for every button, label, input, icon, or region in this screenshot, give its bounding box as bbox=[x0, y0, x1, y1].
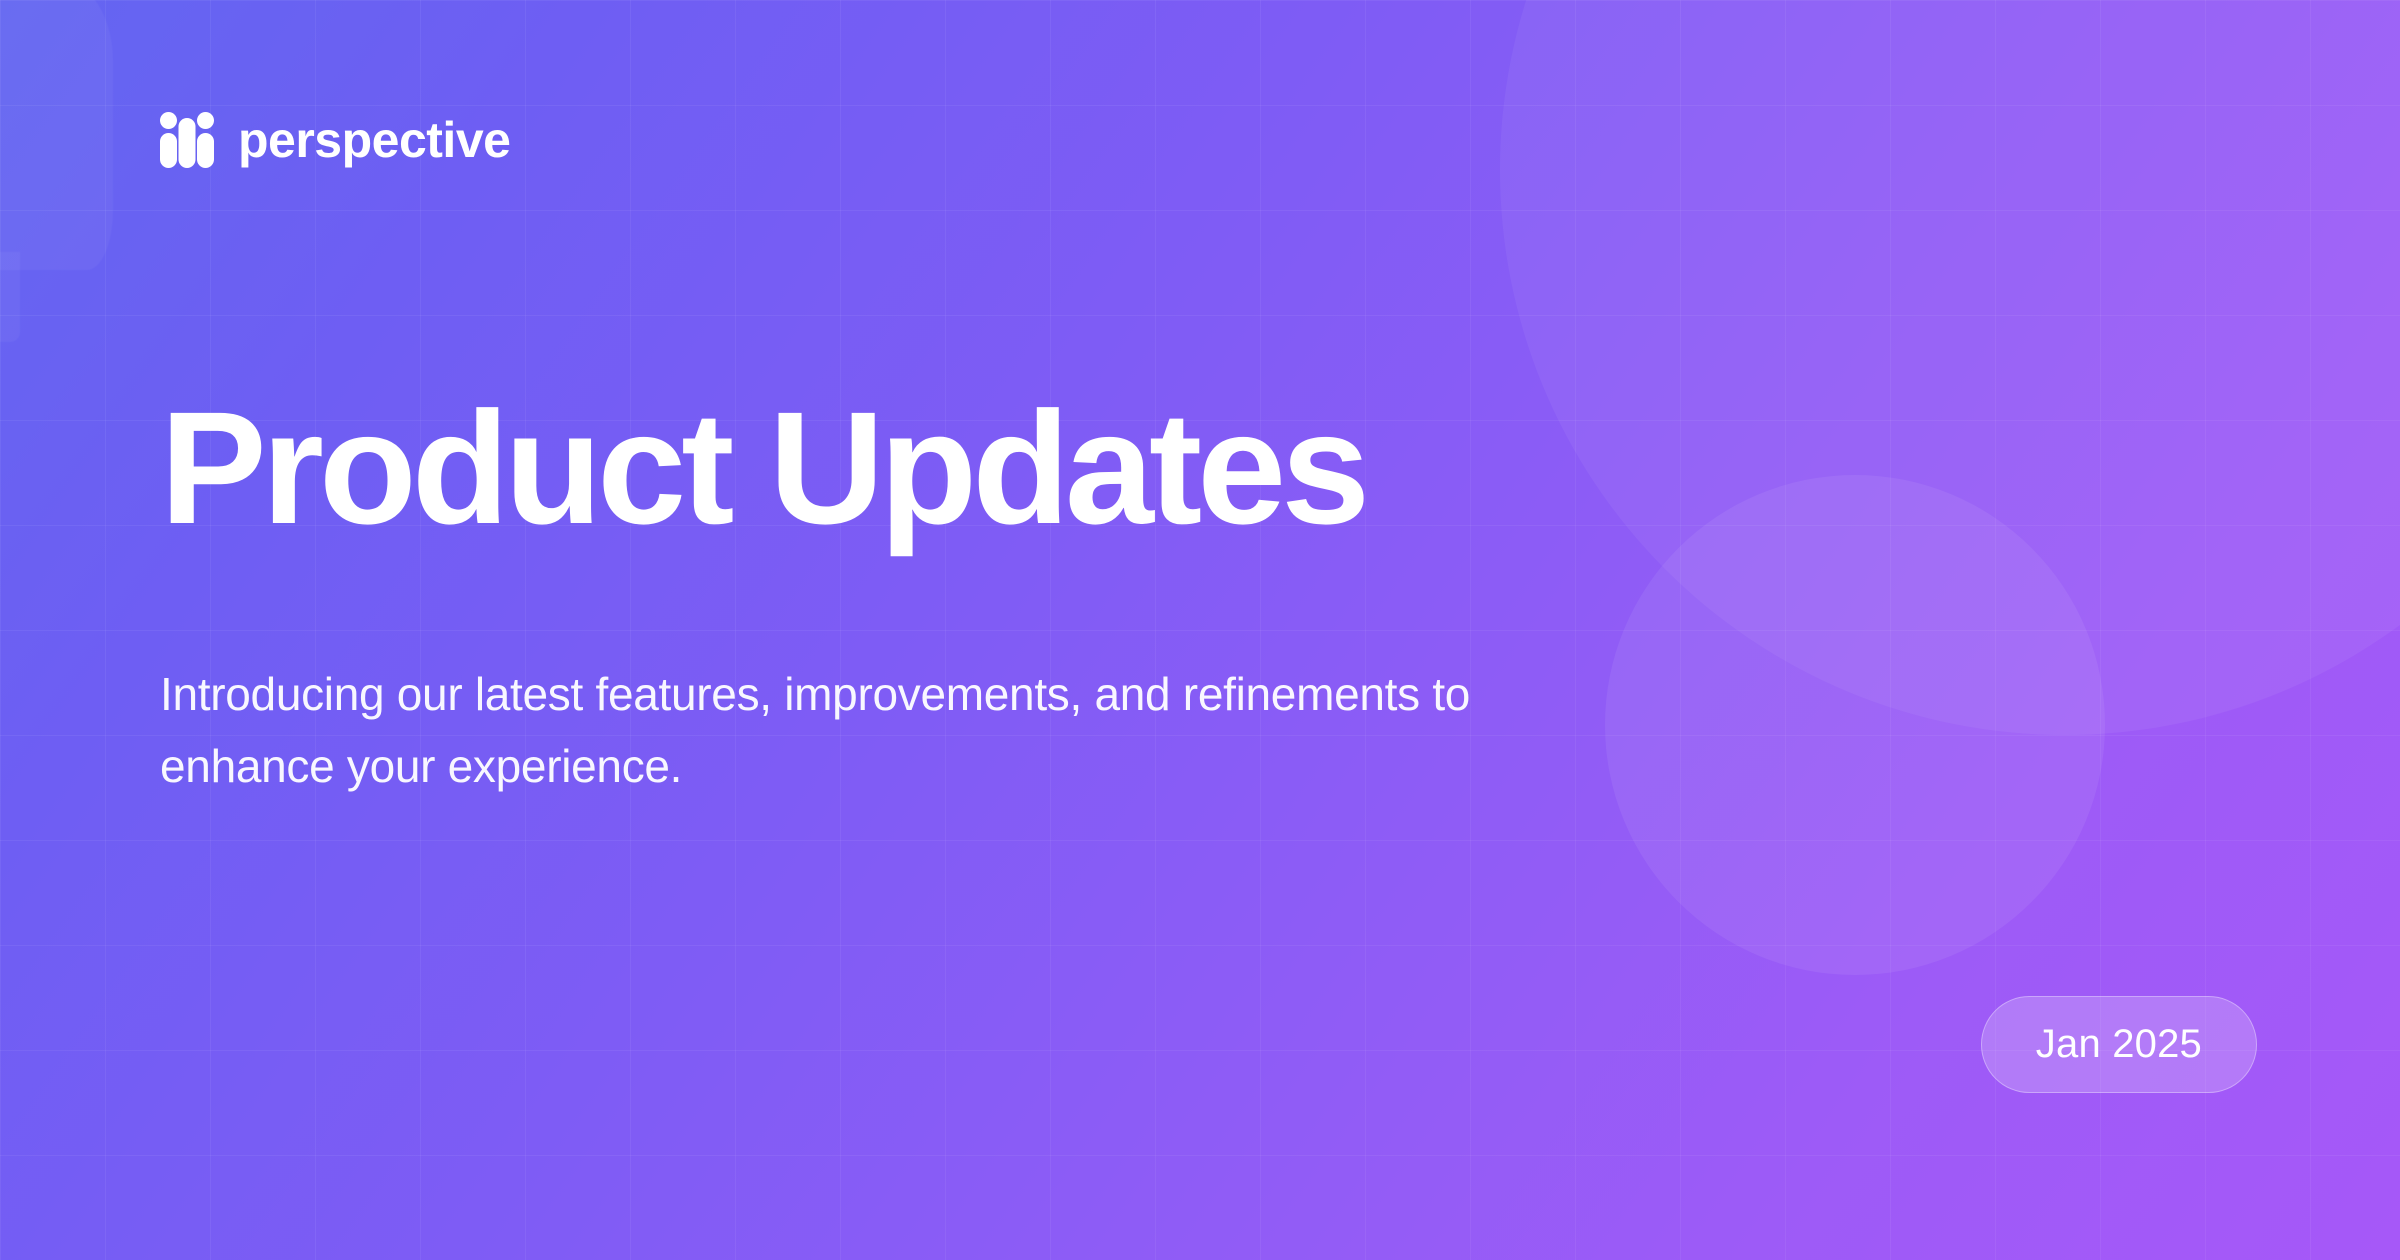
perspective-bars-icon bbox=[160, 112, 214, 168]
product-updates-slide: perspective Product Updates Introducing … bbox=[0, 0, 2400, 1260]
hero-content: Product Updates Introducing our latest f… bbox=[160, 385, 1720, 802]
brand-logo[interactable]: perspective bbox=[160, 112, 510, 168]
page-title: Product Updates bbox=[160, 385, 1720, 551]
date-badge[interactable]: Jan 2025 bbox=[1981, 996, 2257, 1093]
decorative-blob-top-left bbox=[0, 0, 113, 270]
brand-name: perspective bbox=[238, 115, 510, 165]
page-subtitle: Introducing our latest features, improve… bbox=[160, 659, 1480, 802]
